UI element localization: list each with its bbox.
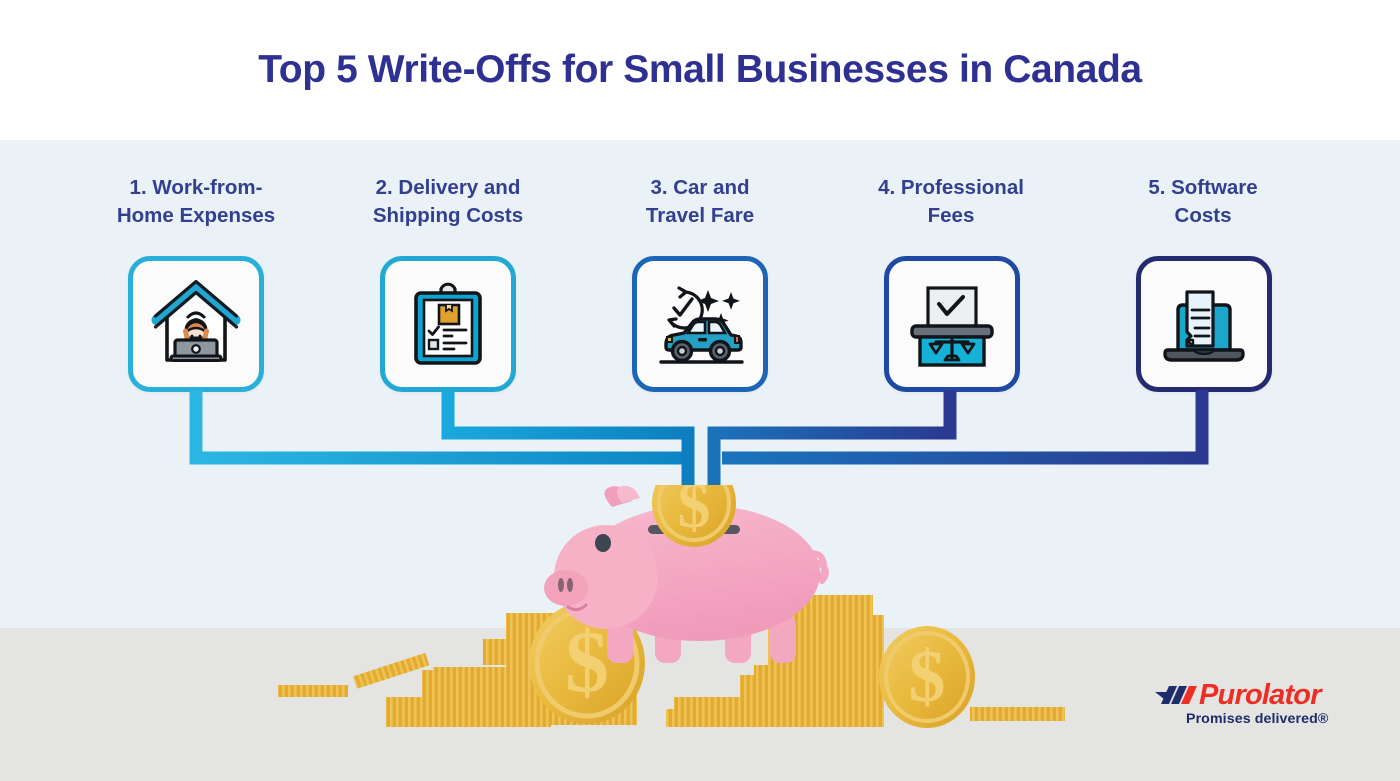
svg-text:$: $ — [909, 636, 946, 718]
coin-row-far-right — [970, 707, 1065, 721]
item-label-1-line2: Home Expenses — [81, 202, 311, 230]
legal-scales-podium-icon — [898, 270, 1006, 378]
icon-card-delivery-shipping[interactable] — [380, 256, 516, 392]
item-label-2: 2. Delivery and Shipping Costs — [333, 174, 563, 231]
svg-text:$: $ — [678, 485, 711, 542]
purolator-logo[interactable]: Purolator Promises delivered® — [1155, 682, 1345, 734]
item-label-5-line2: Costs — [1088, 202, 1318, 230]
piggy-bank-illustration: $ $ — [270, 485, 1090, 735]
item-label-4: 4. Professional Fees — [836, 174, 1066, 231]
page-title: Top 5 Write-Offs for Small Businesses in… — [0, 48, 1400, 92]
icon-card-professional-fees[interactable] — [884, 256, 1020, 392]
item-label-2-line2: Shipping Costs — [333, 202, 563, 230]
coin-large-right: $ — [879, 626, 975, 728]
item-label-5: 5. Software Costs — [1088, 174, 1318, 231]
item-label-4-line1: 4. Professional — [836, 174, 1066, 202]
clipboard-package-checklist-icon — [394, 270, 502, 378]
purolator-arrow-slashes-mark — [1155, 684, 1199, 708]
logo-brand-text: Purolator — [1199, 679, 1321, 712]
item-label-1: 1. Work-from- Home Expenses — [81, 174, 311, 231]
laptop-document-icon — [1150, 270, 1258, 378]
item-label-2-line1: 2. Delivery and — [333, 174, 563, 202]
infographic-canvas: Top 5 Write-Offs for Small Businesses in… — [0, 0, 1400, 781]
item-label-5-line1: 5. Software — [1088, 174, 1318, 202]
car-travel-icon — [646, 270, 754, 378]
item-label-3-line2: Travel Fare — [585, 202, 815, 230]
icon-card-car-travel[interactable] — [632, 256, 768, 392]
item-label-3: 3. Car and Travel Fare — [585, 174, 815, 231]
icon-card-software-costs[interactable] — [1136, 256, 1272, 392]
icon-card-work-from-home[interactable] — [128, 256, 264, 392]
house-remote-work-icon — [142, 270, 250, 378]
item-label-4-line2: Fees — [836, 202, 1066, 230]
logo-tagline: Promises delivered® — [1186, 711, 1328, 727]
item-label-3-line1: 3. Car and — [585, 174, 815, 202]
item-label-1-line1: 1. Work-from- — [81, 174, 311, 202]
